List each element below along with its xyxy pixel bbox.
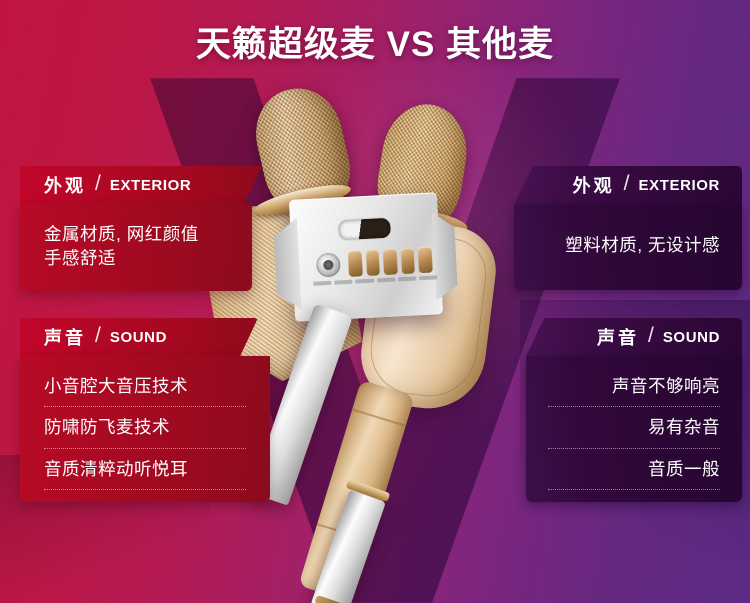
control-button-icon bbox=[365, 249, 380, 276]
page-title: 天籁超级麦 VS 其他麦 bbox=[0, 16, 750, 67]
list-item: 防啸防飞麦技术 bbox=[44, 407, 246, 447]
left-sound-title-cn: 声音 bbox=[44, 324, 86, 350]
list-item: 易有杂音 bbox=[548, 407, 720, 447]
list-item: 音质一般 bbox=[548, 449, 720, 489]
list-item: 音质清粹动听悦耳 bbox=[44, 449, 246, 489]
list-divider bbox=[548, 489, 720, 490]
control-buttons-row bbox=[348, 247, 433, 277]
right-sound-panel: 声音 / SOUND 声音不够响亮 易有杂音 音质一般 bbox=[526, 318, 742, 502]
right-sound-header: 声音 / SOUND bbox=[526, 318, 742, 356]
left-exterior-header: 外观 / EXTERIOR bbox=[20, 166, 262, 204]
right-exterior-panel: 外观 / EXTERIOR 塑料材质, 无设计感 bbox=[514, 166, 742, 290]
control-labels-row bbox=[313, 275, 437, 285]
right-exterior-title-en: EXTERIOR bbox=[639, 177, 720, 194]
list-item: 小音腔大音压技术 bbox=[44, 366, 246, 406]
right-exterior-title-cn: 外观 bbox=[573, 172, 615, 198]
left-exterior-title-en: EXTERIOR bbox=[110, 177, 191, 194]
left-sound-panel: 声音 / SOUND 小音腔大音压技术 防啸防飞麦技术 音质清粹动听悦耳 bbox=[20, 318, 270, 502]
premium-mic-tip-icon bbox=[314, 595, 347, 603]
separator-slash: / bbox=[95, 172, 101, 196]
control-button-icon bbox=[348, 250, 363, 277]
right-sound-body: 声音不够响亮 易有杂音 音质一般 bbox=[526, 356, 742, 502]
right-exterior-body: 塑料材质, 无设计感 bbox=[514, 204, 742, 290]
separator-slash: / bbox=[624, 172, 630, 196]
left-exterior-body: 金属材质, 网红颜值 手感舒适 bbox=[20, 204, 252, 291]
list-item: 声音不够响亮 bbox=[548, 366, 720, 406]
control-button-icon bbox=[383, 248, 398, 275]
control-button-icon bbox=[418, 247, 433, 274]
promo-banner: 天籁超级麦 VS 其他麦 bbox=[0, 0, 750, 603]
control-button-icon bbox=[400, 247, 415, 274]
right-sound-title-cn: 声音 bbox=[597, 324, 639, 350]
premium-mic-control-panel bbox=[289, 192, 443, 322]
volume-knob-icon bbox=[316, 252, 341, 277]
left-exterior-panel: 外观 / EXTERIOR 金属材质, 网红颜值 手感舒适 bbox=[20, 166, 252, 291]
list-item: 塑料材质, 无设计感 bbox=[536, 214, 720, 278]
display-screen-icon bbox=[337, 217, 392, 242]
list-item: 手感舒适 bbox=[44, 247, 228, 278]
right-exterior-header: 外观 / EXTERIOR bbox=[514, 166, 742, 204]
left-sound-body: 小音腔大音压技术 防啸防飞麦技术 音质清粹动听悦耳 bbox=[20, 356, 270, 502]
list-divider bbox=[44, 489, 246, 490]
left-exterior-title-cn: 外观 bbox=[44, 172, 86, 198]
separator-slash: / bbox=[95, 324, 101, 348]
list-item: 金属材质, 网红颜值 bbox=[44, 214, 228, 247]
right-sound-title-en: SOUND bbox=[663, 329, 720, 346]
left-sound-header: 声音 / SOUND bbox=[20, 318, 258, 356]
separator-slash: / bbox=[648, 324, 654, 348]
left-sound-title-en: SOUND bbox=[110, 329, 167, 346]
product-image bbox=[228, 88, 528, 588]
